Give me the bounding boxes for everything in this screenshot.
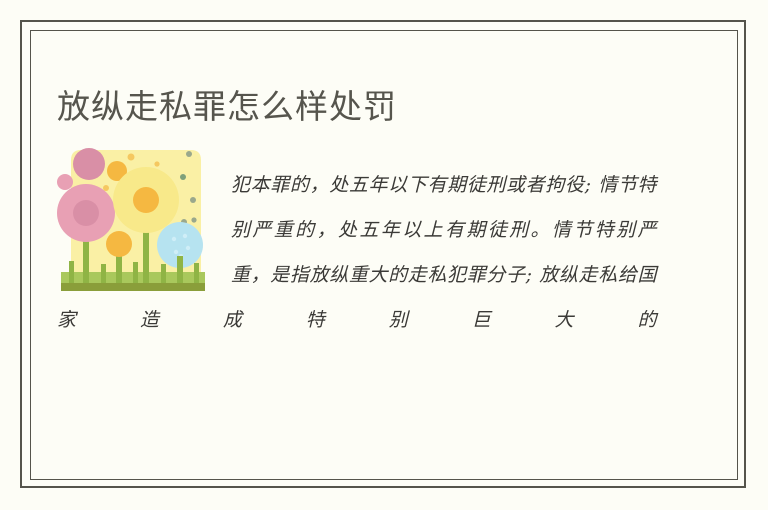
article-content: 犯本罪的，处五年以下有期徒刑或者拘役; 情节特别严重的，处五年以上有期徒刑。情节… [57,144,657,362]
page-title: 放纵走私罪怎么样处罚 [57,84,397,130]
document-page: 放纵走私罪怎么样处罚 [0,0,768,510]
article-illustration [57,144,209,297]
flower-garden-icon [57,144,209,297]
